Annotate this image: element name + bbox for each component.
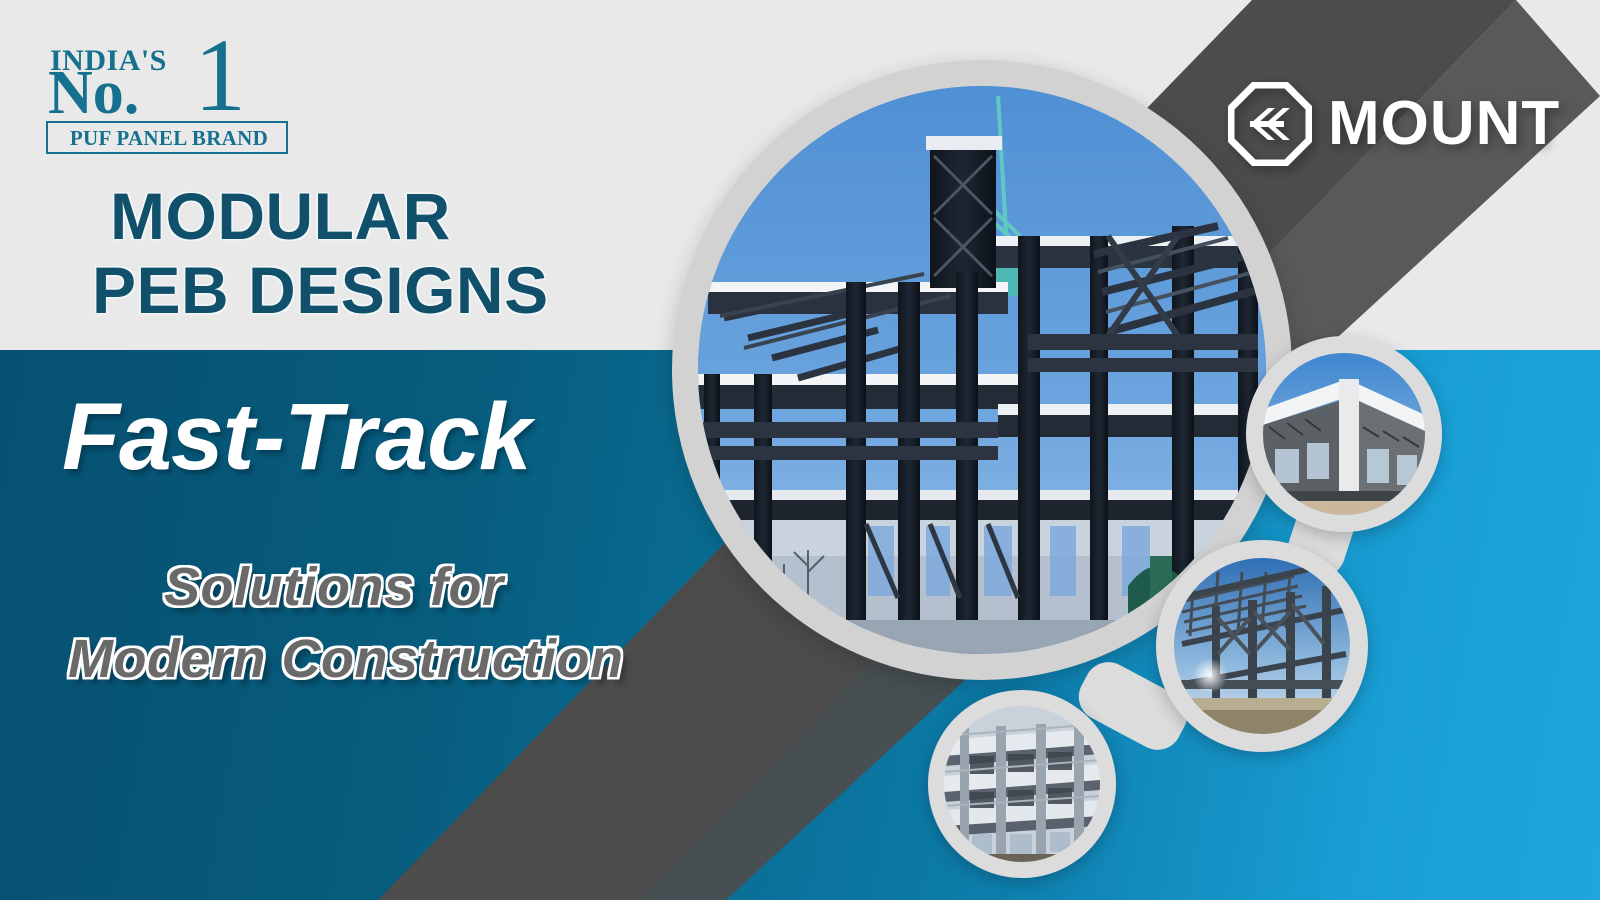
badge-no-label: No. xyxy=(48,62,139,124)
thumbnail-multi-storey-frame-photo xyxy=(944,706,1100,862)
brand-logo[interactable]: MOUNT xyxy=(1228,82,1560,166)
subtitle-line-1: Solutions for xyxy=(164,552,688,624)
thumbnail-peb-building-photo xyxy=(1263,353,1425,515)
multi-storey-steel-frame-photo xyxy=(944,706,1100,862)
peb-building-exterior-photo xyxy=(1263,353,1425,515)
subtitle-line-2: Modern Construction xyxy=(68,624,688,696)
steel-frame-construction-photo xyxy=(698,86,1266,654)
thumbnail-multi-storey-frame[interactable] xyxy=(928,690,1116,878)
steel-truss-frame-photo xyxy=(1174,558,1350,734)
headline-line-2: PEB DESIGNS xyxy=(92,254,730,328)
thumbnail-peb-building[interactable] xyxy=(1246,336,1442,532)
page-title: MODULAR PEB DESIGNS xyxy=(110,180,730,328)
indias-no1-badge: INDIA'S No. 1 PUF PANEL BRAND xyxy=(42,18,292,146)
promo-banner: INDIA'S No. 1 PUF PANEL BRAND MODULAR PE… xyxy=(0,0,1600,900)
badge-number-one: 1 xyxy=(194,24,246,128)
fast-track-heading: Fast-Track xyxy=(62,390,531,485)
double-chevron-diamond-icon xyxy=(1228,82,1312,166)
subtitle: Solutions for Modern Construction xyxy=(68,552,688,696)
thumbnail-steel-truss[interactable] xyxy=(1156,540,1368,752)
headline-line-1: MODULAR xyxy=(110,180,730,254)
thumbnail-steel-truss-photo xyxy=(1174,558,1350,734)
hero-construction-photo xyxy=(698,86,1266,654)
badge-box-frame: PUF PANEL BRAND xyxy=(46,121,288,154)
brand-name: MOUNT xyxy=(1328,93,1560,155)
badge-box-label: PUF PANEL BRAND xyxy=(48,123,290,156)
